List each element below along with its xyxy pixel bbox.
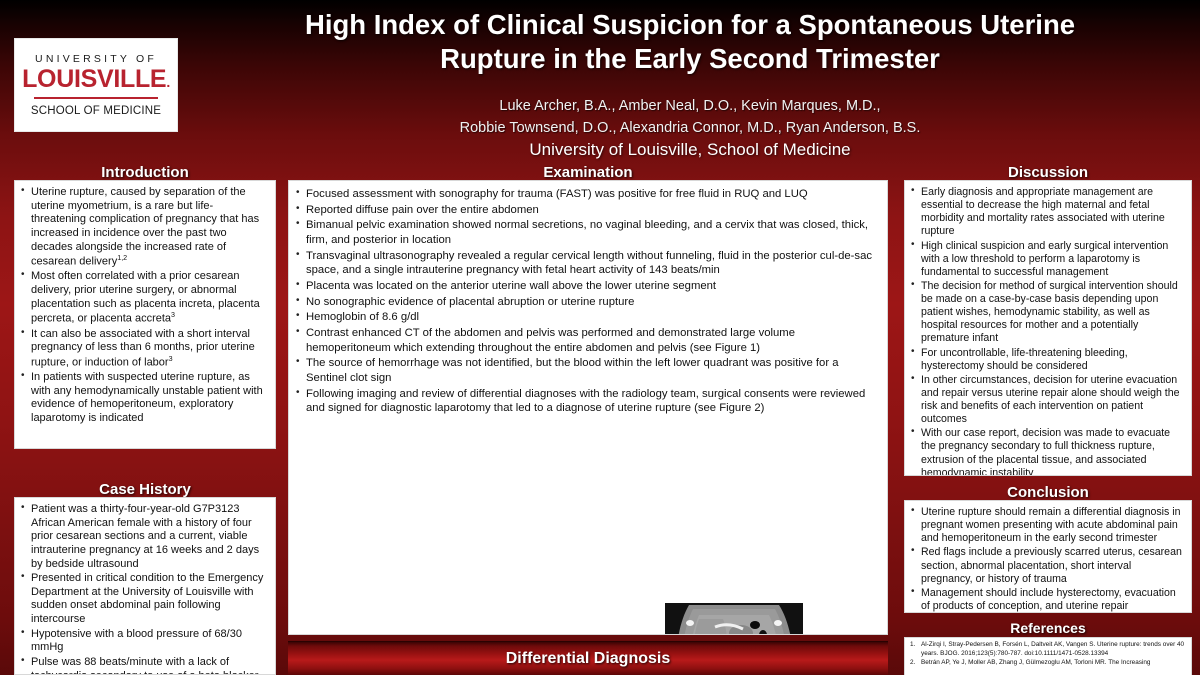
list-item: In other circumstances, decision for ute… xyxy=(910,374,1184,427)
list-item: No sonographic evidence of placental abr… xyxy=(295,295,879,310)
conclusion-bullet-list: Uterine rupture should remain a differen… xyxy=(910,506,1184,613)
banner-differential-diagnosis: Differential Diagnosis xyxy=(288,641,888,675)
list-item: In patients with suspected uterine ruptu… xyxy=(20,371,268,426)
list-item: Contrast enhanced CT of the abdomen and … xyxy=(295,326,879,355)
poster-title: High Index of Clinical Suspicion for a S… xyxy=(190,8,1190,77)
list-item: Following imaging and review of differen… xyxy=(295,387,879,416)
ct-scan-image xyxy=(659,599,809,635)
university-logo: UNIVERSITY OF LOUISVILLE. SCHOOL OF MEDI… xyxy=(14,38,178,132)
list-item: It can also be associated with a short i… xyxy=(20,328,268,371)
list-item: Al-Zirqi I, Stray-Pedersen B, Forsén L, … xyxy=(909,641,1186,658)
heading-differential-diagnosis: Differential Diagnosis xyxy=(506,650,670,668)
logo-school-text: SCHOOL OF MEDICINE xyxy=(31,105,161,117)
list-item: Hypotensive with a blood pressure of 68/… xyxy=(20,628,268,655)
list-item: Transvaginal ultrasonography revealed a … xyxy=(295,249,879,278)
heading-references: References xyxy=(904,620,1192,636)
examination-bullet-list: Focused assessment with sonography for t… xyxy=(295,187,879,416)
poster-authors: Luke Archer, B.A., Amber Neal, D.O., Kev… xyxy=(190,96,1190,140)
section-examination: Focused assessment with sonography for t… xyxy=(288,180,888,635)
poster-title-line2: Rupture in the Early Second Trimester xyxy=(190,42,1190,76)
authors-line1: Luke Archer, B.A., Amber Neal, D.O., Kev… xyxy=(190,96,1190,118)
section-case-history: Patient was a thirty-four-year-old G7P31… xyxy=(14,497,276,675)
list-item: Red flags include a previously scarred u… xyxy=(910,546,1184,585)
list-item: Early diagnosis and appropriate manageme… xyxy=(910,186,1184,239)
logo-louisville-text: LOUISVILLE. xyxy=(22,67,170,92)
list-item: Hemoglobin of 8.6 g/dl xyxy=(295,310,879,325)
list-item: Focused assessment with sonography for t… xyxy=(295,187,879,202)
list-item: Uterine rupture, caused by separation of… xyxy=(20,186,268,269)
discussion-bullet-list: Early diagnosis and appropriate manageme… xyxy=(910,186,1184,476)
list-item: Placenta was located on the anterior ute… xyxy=(295,279,879,294)
list-item: Patient was a thirty-four-year-old G7P31… xyxy=(20,503,268,571)
list-item: Bimanual pelvic examination showed norma… xyxy=(295,218,879,247)
list-item: The decision for method of surgical inte… xyxy=(910,280,1184,346)
heading-conclusion: Conclusion xyxy=(904,484,1192,501)
logo-divider xyxy=(34,97,158,99)
figure-row: Figure 1. Coronal CT A/P demonstrating l… xyxy=(589,599,888,635)
poster-title-line1: High Index of Clinical Suspicion for a S… xyxy=(190,8,1190,42)
list-item: Most often correlated with a prior cesar… xyxy=(20,270,268,326)
list-item: Betrán AP, Ye J, Moller AB, Zhang J, Gül… xyxy=(909,659,1186,668)
case-history-bullet-list: Patient was a thirty-four-year-old G7P31… xyxy=(20,503,268,675)
list-item: Reported diffuse pain over the entire ab… xyxy=(295,203,879,218)
references-list: Al-Zirqi I, Stray-Pedersen B, Forsén L, … xyxy=(909,641,1186,668)
heading-case-history: Case History xyxy=(14,481,276,498)
logo-university-text: UNIVERSITY OF xyxy=(35,53,157,65)
poster-canvas: UNIVERSITY OF LOUISVILLE. SCHOOL OF MEDI… xyxy=(0,0,1200,675)
list-item: Uterine rupture should remain a differen… xyxy=(910,506,1184,545)
section-conclusion: Uterine rupture should remain a differen… xyxy=(904,500,1192,613)
heading-examination: Examination xyxy=(288,164,888,181)
heading-discussion: Discussion xyxy=(904,164,1192,181)
introduction-bullet-list: Uterine rupture, caused by separation of… xyxy=(20,186,268,426)
figure-1: Figure 1. Coronal CT A/P demonstrating l… xyxy=(601,599,866,635)
list-item: The source of hemorrhage was not identif… xyxy=(295,356,879,385)
list-item: Management should include hysterectomy, … xyxy=(910,587,1184,613)
list-item: For uncontrollable, life-threatening ble… xyxy=(910,347,1184,373)
section-introduction: Uterine rupture, caused by separation of… xyxy=(14,180,276,449)
heading-introduction: Introduction xyxy=(14,164,276,181)
list-item: Pulse was 88 beats/minute with a lack of… xyxy=(20,656,268,675)
poster-affiliation: University of Louisville, School of Medi… xyxy=(190,140,1190,160)
authors-line2: Robbie Townsend, D.O., Alexandria Connor… xyxy=(190,118,1190,140)
list-item: Presented in critical condition to the E… xyxy=(20,572,268,627)
section-discussion: Early diagnosis and appropriate manageme… xyxy=(904,180,1192,476)
list-item: High clinical suspicion and early surgic… xyxy=(910,240,1184,279)
list-item: With our case report, decision was made … xyxy=(910,427,1184,476)
section-references: Al-Zirqi I, Stray-Pedersen B, Forsén L, … xyxy=(904,637,1192,675)
